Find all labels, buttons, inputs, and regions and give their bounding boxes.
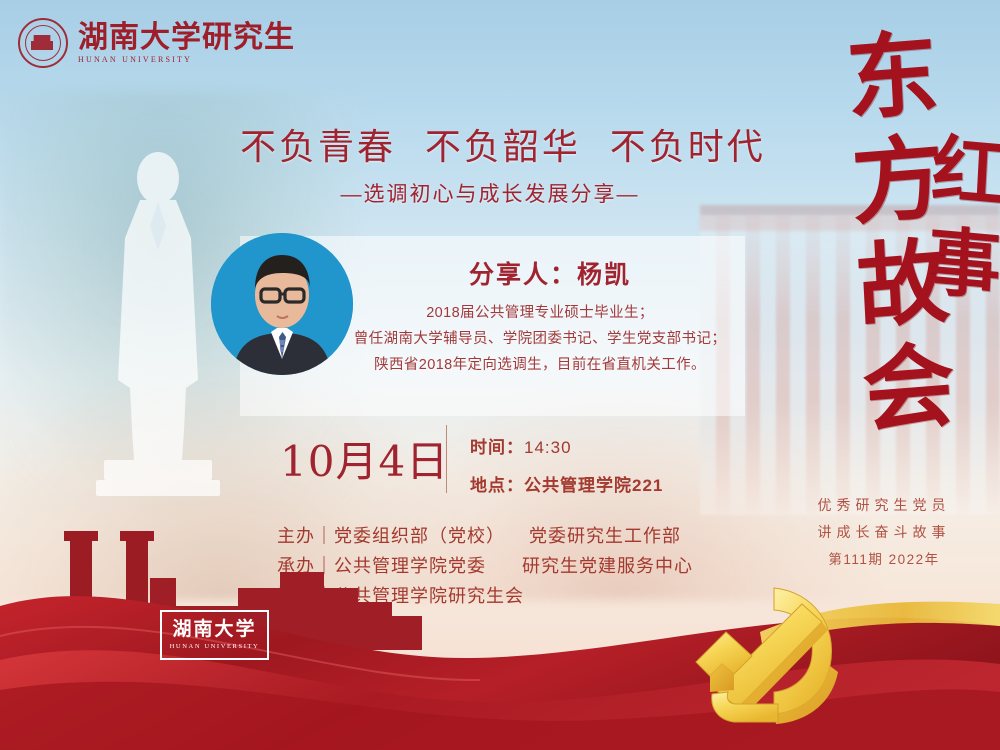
event-place-label: 地点： [470,476,524,495]
divider [446,425,447,493]
header-logo: 湖南大学研究生 HUNAN UNIVERSITY [18,18,295,68]
cpc-party-emblem-icon [668,562,858,732]
university-seal-icon [18,18,68,68]
poster-root: 湖南大学研究生 HUNAN UNIVERSITY 不负青春 不负韶华 不负时代 … [0,0,1000,750]
speaker-name: 分享人：杨凯 [360,255,740,291]
speaker-bio-line: 2018届公共管理专业硕士毕业生； [330,300,750,326]
event-time: 时间：14:30 [470,433,572,458]
header-logo-text: 湖南大学研究生 HUNAN UNIVERSITY [78,23,295,64]
calligraphy-column-left: 红事 [919,129,1000,319]
header-logo-en: HUNAN UNIVERSITY [78,56,295,64]
calligraphy-block: 东方故会 红事 [770,0,1000,540]
event-time-label: 时间： [470,438,524,457]
header-logo-cn: 湖南大学研究生 [78,23,295,53]
speaker-bio-line: 曾任湖南大学辅导员、学院团委书记、学生党支部书记； [330,326,750,352]
speaker-bio-line: 陕西省2018年定向选调生，目前在省直机关工作。 [330,352,750,378]
badge-label-cn: 湖南大学 [172,620,256,639]
page-subtitle: —选调初心与成长发展分享— [240,178,740,208]
event-place: 地点：公共管理学院221 [470,471,663,496]
calligraphy-sub-line1: 优秀研究生党员 [774,492,994,519]
hunan-university-badge: 湖南大学 HUNAN UNIVERSITY [160,610,269,660]
page-title: 不负青春 不负韶华 不负时代 [240,118,740,170]
event-date: 10月4日 [280,428,449,489]
event-time-value: 14:30 [524,438,572,457]
speaker-bio: 2018届公共管理专业硕士毕业生； 曾任湖南大学辅导员、学院团委书记、学生党支部… [330,300,750,378]
event-place-value: 公共管理学院221 [524,476,663,495]
badge-label-en: HUNAN UNIVERSITY [170,643,260,650]
